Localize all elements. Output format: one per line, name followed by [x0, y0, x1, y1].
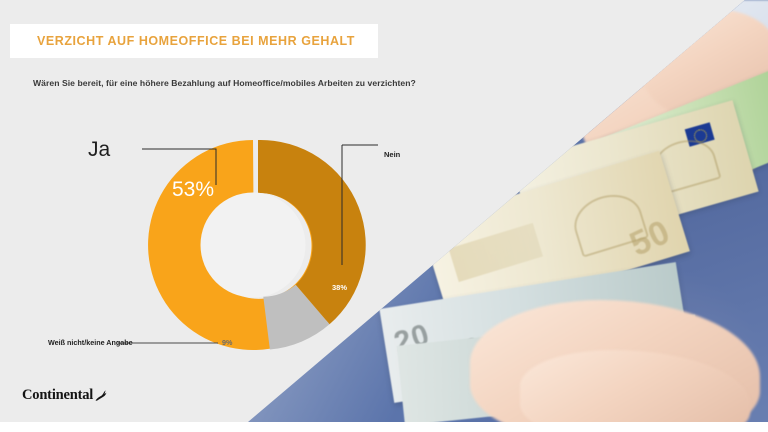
slice-value-nein: 38%	[332, 283, 347, 292]
slice-label-weiss-nicht: Weiß nicht/keine Angabe	[48, 338, 133, 347]
continental-logo: Continental	[22, 388, 107, 403]
slice-value-weiss-nicht: 9%	[222, 338, 232, 347]
donut-hole	[201, 193, 306, 298]
continental-wordmark: Continental	[22, 388, 93, 403]
slide-canvas: 50 20 EURO VERZICHT AUF HOMEOFFICE BEI M…	[0, 0, 768, 432]
slice-label-ja: Ja	[88, 138, 110, 162]
banknote-stripe	[448, 223, 542, 283]
bottom-strip	[0, 422, 768, 432]
slice-label-nein: Nein	[384, 150, 400, 159]
leader-line-weiss-nicht-svg	[118, 339, 228, 347]
slice-value-ja: 53%	[172, 178, 214, 202]
donut-chart-svg	[140, 132, 380, 362]
horse-icon	[94, 389, 107, 402]
donut-chart: Ja 53% Nein 38% Weiß nicht/keine Angabe …	[0, 0, 460, 432]
